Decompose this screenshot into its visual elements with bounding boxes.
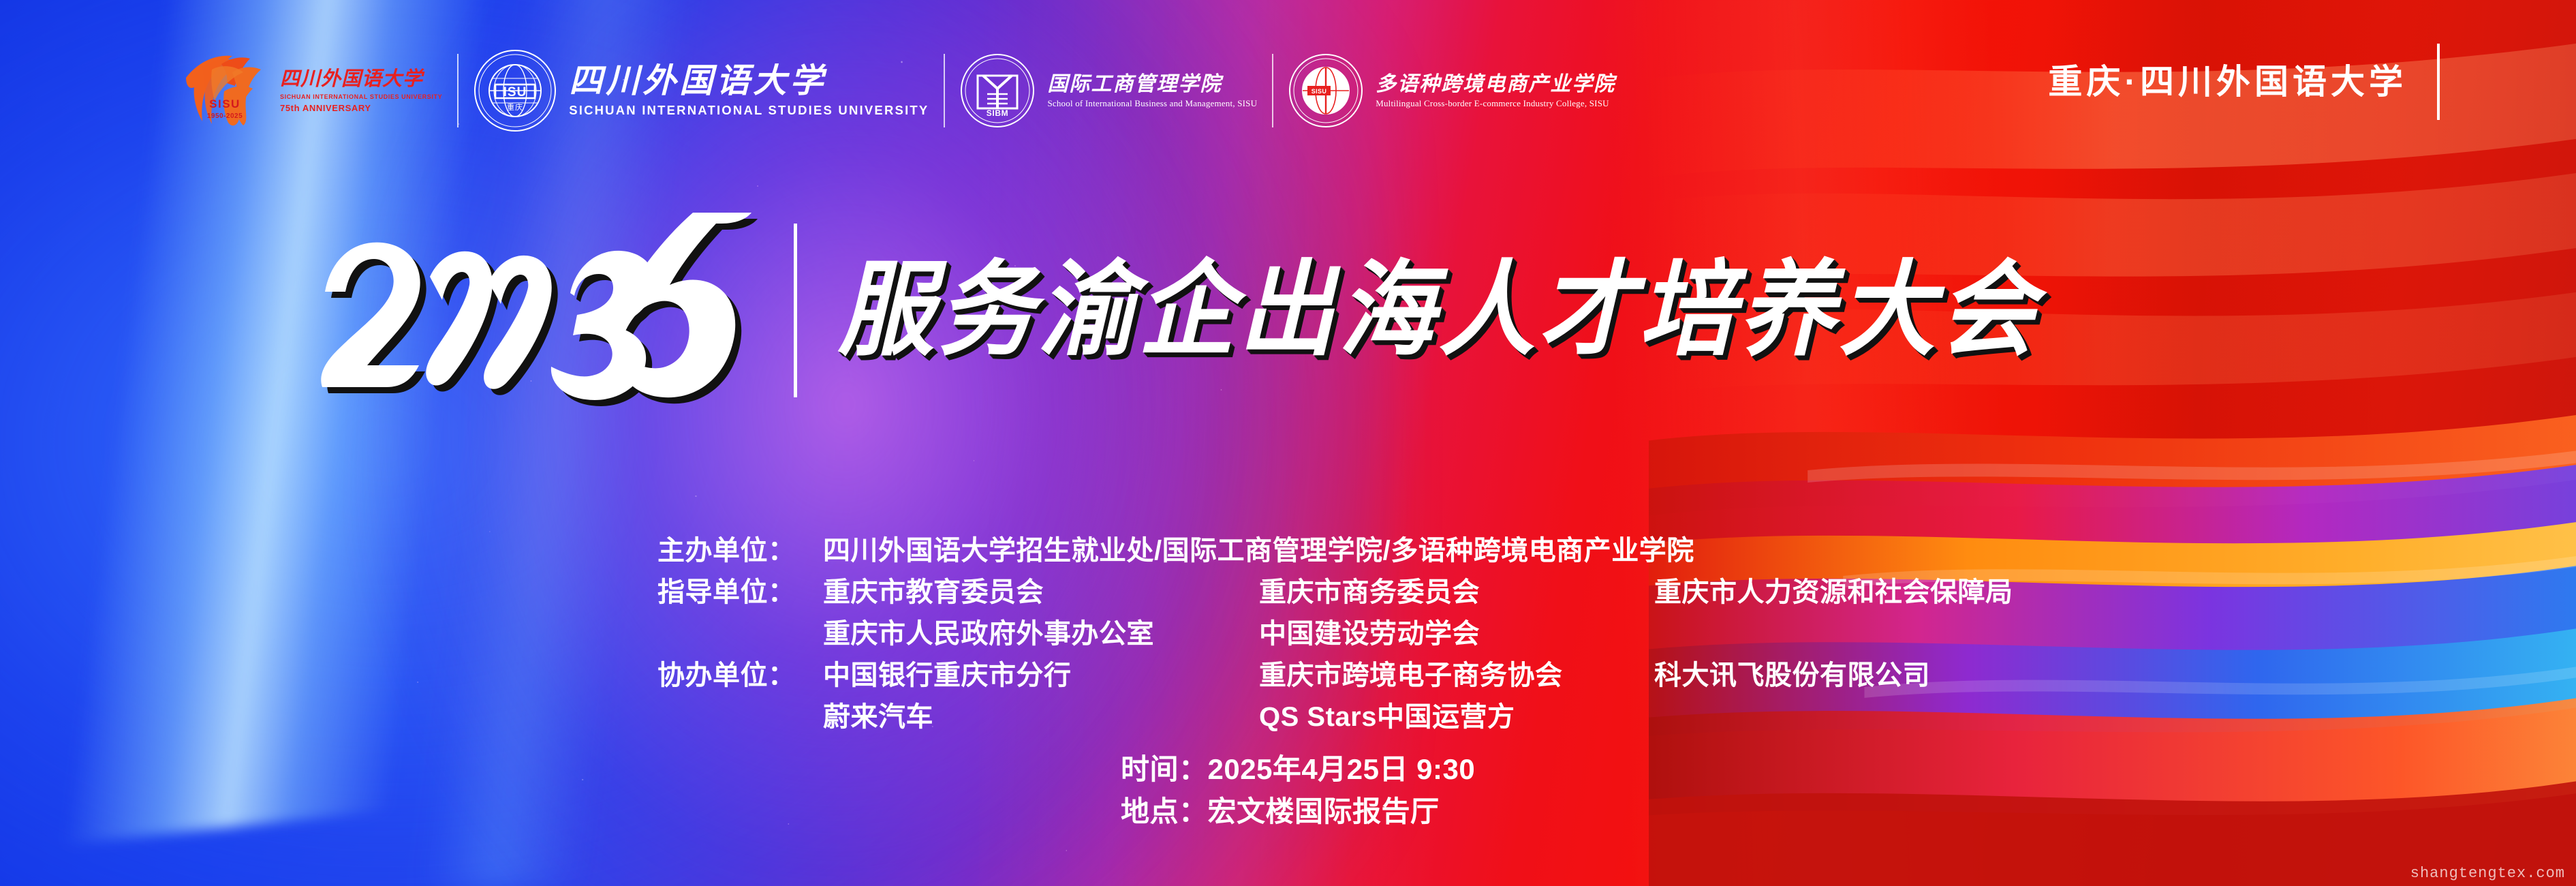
logo-cn-name: 国际工商管理学院 xyxy=(1047,74,1257,95)
sisu-75-anniversary-logo-icon: SISU 1950-2025 xyxy=(182,49,268,132)
logo-en-name: SICHUAN INTERNATIONAL STUDIES UNIVERSITY xyxy=(569,104,929,117)
ribbon-waves-svg xyxy=(1649,0,2576,886)
logo-anniversary-label: 75th ANNIVERSARY xyxy=(280,104,442,112)
logo-multilingual-cross-border-ecommerce-industry-college: SISU 多语种跨境电商产业学院 Multilingual Cross-bord… xyxy=(1273,47,1630,134)
logo-en-name: School of International Business and Man… xyxy=(1047,99,1257,108)
mcbeic-emblem-icon: SISU xyxy=(1288,53,1363,128)
svg-text:ISU: ISU xyxy=(503,85,527,100)
organizer-value: 重庆市商务委员会 xyxy=(1259,572,1654,613)
organizer-value: 重庆市人民政府外事办公室 xyxy=(823,613,1259,655)
logo-cn-name: 多语种跨境电商产业学院 xyxy=(1376,74,1615,95)
event-banner: SISU 1950-2025 四川外国语大学 SICHUAN INTERNATI… xyxy=(0,0,2576,886)
organizer-label: 指导单位： xyxy=(657,572,823,613)
organizer-value: 蔚来汽车 xyxy=(823,697,1259,738)
organizer-value: 重庆市跨境电子商务协会 xyxy=(1259,655,1654,697)
header-location-block: 重庆·四川外国语大学 xyxy=(2048,42,2440,121)
event-meta-block: 时间：2025年4月25日 9:30 地点：宏文楼国际报告厅 xyxy=(1121,748,1475,833)
svg-text:1950-2025: 1950-2025 xyxy=(207,112,243,120)
sisu-globe-emblem-icon: ISU 重庆 四川外国语大学 xyxy=(474,49,557,132)
logo-school-of-international-business-and-management: SIBM 国际工商管理学院 School of International Bu… xyxy=(945,47,1272,134)
event-time: 时间：2025年4月25日 9:30 xyxy=(1121,748,1475,791)
organizer-value: 科大讯飞股份有限公司 xyxy=(1654,655,1930,697)
partner-logo-bar: SISU 1950-2025 四川外国语大学 SICHUAN INTERNATI… xyxy=(167,40,1630,142)
title-divider xyxy=(794,224,797,397)
main-title-row: 2025 服务渝企出海人才培养大会 xyxy=(310,211,2130,409)
organizer-row: 重庆市人民政府外事办公室 中国建设劳动学会 xyxy=(657,613,2013,655)
event-title: 服务渝企出海人才培养大会 xyxy=(838,258,2039,362)
svg-text:SISU: SISU xyxy=(209,97,240,110)
organizer-value: 重庆市教育委员会 xyxy=(823,572,1259,613)
organizer-row: 主办单位： 四川外国语大学招生就业处/国际工商管理学院/多语种跨境电商产业学院 xyxy=(657,530,2013,572)
organizers-block: 主办单位： 四川外国语大学招生就业处/国际工商管理学院/多语种跨境电商产业学院 … xyxy=(657,530,2013,738)
header-location-divider xyxy=(2437,44,2440,120)
svg-text:重庆: 重庆 xyxy=(507,102,523,112)
logo-en-name: SICHUAN INTERNATIONAL STUDIES UNIVERSITY xyxy=(280,94,442,100)
event-place: 地点：宏文楼国际报告厅 xyxy=(1121,791,1475,833)
logo-sichuan-international-studies-university: ISU 重庆 四川外国语大学 四川外国语大学 SICHUAN INTERNATI… xyxy=(459,47,944,134)
organizer-value: 四川外国语大学招生就业处/国际工商管理学院/多语种跨境电商产业学院 xyxy=(823,530,1694,572)
event-year-2025-calligraphy: 2025 xyxy=(310,211,787,409)
organizer-value: 重庆市人力资源和社会保障局 xyxy=(1654,572,2013,613)
organizer-label: 主办单位： xyxy=(657,530,823,572)
background-ribbon-waves xyxy=(1649,0,2576,886)
svg-text:SISU: SISU xyxy=(1312,88,1327,95)
organizer-value: 中国银行重庆市分行 xyxy=(823,655,1259,697)
svg-text:SIBM: SIBM xyxy=(987,108,1008,118)
organizer-label: 协办单位： xyxy=(657,655,823,697)
event-year-lockup: 2025 xyxy=(310,211,787,409)
source-watermark: shangtengtex.com xyxy=(2410,865,2565,882)
logo-cn-name: 四川外国语大学 xyxy=(569,64,929,97)
organizer-row: 指导单位： 重庆市教育委员会 重庆市商务委员会 重庆市人力资源和社会保障局 xyxy=(657,572,2013,613)
logo-cn-name: 四川外国语大学 xyxy=(280,70,442,89)
svg-text:四川外国语大学: 四川外国语大学 xyxy=(474,49,476,50)
organizer-value: QS Stars中国运营方 xyxy=(1259,697,1654,738)
organizer-value: 中国建设劳动学会 xyxy=(1259,613,1654,655)
organizer-row: 蔚来汽车 QS Stars中国运营方 xyxy=(657,697,2013,738)
header-location-text: 重庆·四川外国语大学 xyxy=(2048,65,2407,99)
organizer-row: 协办单位： 中国银行重庆市分行 重庆市跨境电子商务协会 科大讯飞股份有限公司 xyxy=(657,655,2013,697)
logo-en-name: Multilingual Cross-border E-commerce Ind… xyxy=(1376,99,1615,108)
sibm-emblem-icon: SIBM xyxy=(960,53,1035,128)
logo-sisu-75th-anniversary: SISU 1950-2025 四川外国语大学 SICHUAN INTERNATI… xyxy=(167,47,457,134)
